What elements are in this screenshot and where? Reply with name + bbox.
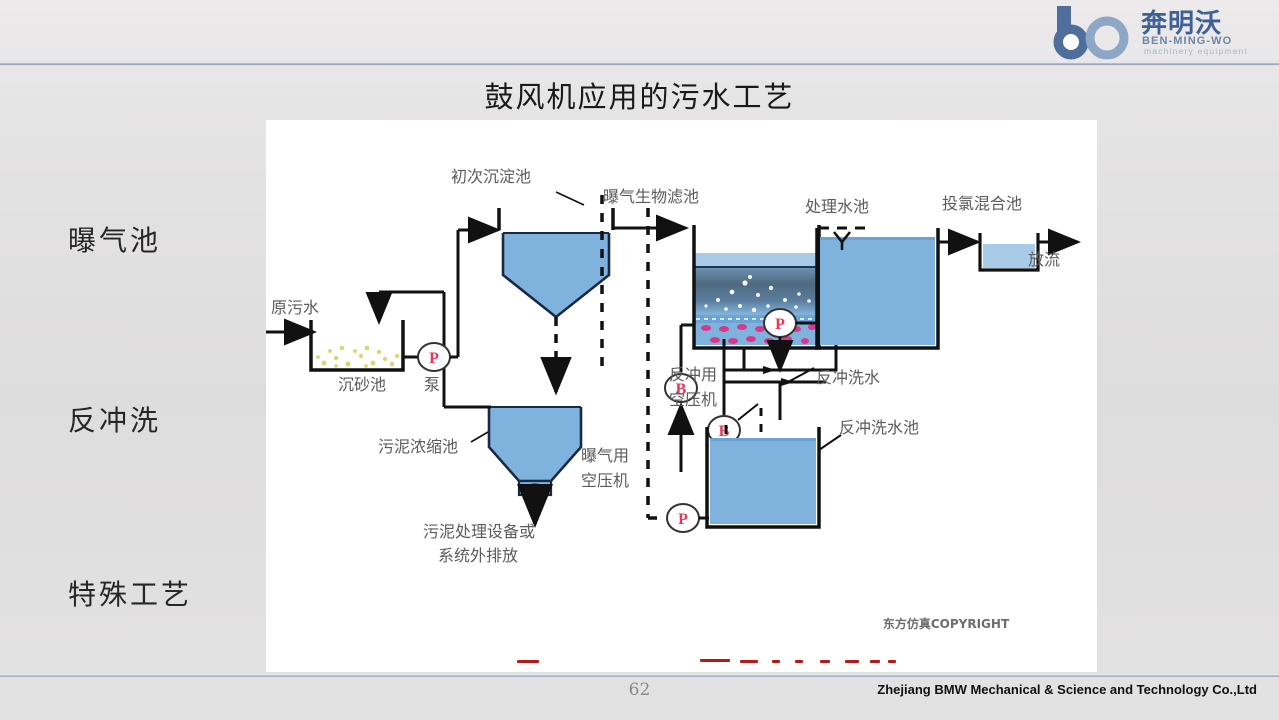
sidebar-item-special-process[interactable]: 特殊工艺 xyxy=(68,573,192,613)
label-backwash-compressor-2: 空压机 xyxy=(669,390,717,409)
sidebar-item-aeration-tank[interactable]: 曝气池 xyxy=(68,219,161,259)
svg-text:P: P xyxy=(429,350,439,367)
label-sludge-thickener: 污泥浓缩池 xyxy=(378,437,458,456)
label-aeration-compressor-2: 空压机 xyxy=(581,471,629,490)
thickener-label-leader xyxy=(471,432,488,442)
clipped-red-text-fragment-4 xyxy=(772,660,780,663)
pump-symbol-1[interactable]: P xyxy=(418,343,450,371)
biofilter-vessel xyxy=(694,225,819,348)
treated-water-vessel xyxy=(817,228,938,348)
sludge-thickener-vessel xyxy=(489,407,581,495)
label-backwash-water: 反冲洗水 xyxy=(816,368,880,387)
label-backwash-water-tank: 反冲洗水池 xyxy=(839,418,919,437)
pump-symbol-sludge[interactable]: P xyxy=(524,484,546,504)
backwash-compressor-leader xyxy=(738,404,758,420)
header-divider xyxy=(0,62,1279,66)
pump-symbol-backwash-tank[interactable]: P xyxy=(667,504,699,532)
svg-text:P: P xyxy=(775,316,785,333)
label-aeration-compressor-1: 曝气用 xyxy=(581,446,629,465)
svg-text:B: B xyxy=(719,423,730,440)
sidebar-item-backwash[interactable]: 反冲洗 xyxy=(68,399,161,439)
label-sludge-disposal-1: 污泥处理设备或 xyxy=(423,522,535,541)
label-pump: 泵 xyxy=(424,375,440,394)
logo-tagline-text: machinery equipment xyxy=(1144,46,1248,56)
label-raw-sewage: 原污水 xyxy=(271,298,319,317)
company-logo: 奔明沃 BEN-MING-WO machinery equipment xyxy=(1049,2,1271,60)
label-grit-chamber: 沉砂池 xyxy=(338,375,386,394)
pump-symbol-backwash[interactable]: P xyxy=(764,309,796,337)
label-primary-sedimentation: 初次沉淀池 xyxy=(451,167,531,186)
backwash-tank-leader xyxy=(819,435,841,450)
logo-mark-bo xyxy=(1057,6,1124,56)
clipped-red-text-fragment-8 xyxy=(870,660,880,663)
label-chlorine-mixing-tank: 投氯混合池 xyxy=(942,194,1022,213)
page-title: 鼓风机应用的污水工艺 xyxy=(0,74,1279,116)
clipped-red-text-fragment-2 xyxy=(700,659,730,662)
footer-divider xyxy=(0,674,1279,678)
primary-clarifier-vessel xyxy=(499,208,613,317)
label-treated-water-tank: 处理水池 xyxy=(805,197,869,216)
clipped-red-text-fragment-3 xyxy=(740,660,758,663)
label-discharge: 放流 xyxy=(1028,250,1060,269)
svg-text:P: P xyxy=(678,511,688,528)
grit-chamber-vessel xyxy=(311,320,403,370)
label-backwash-compressor-1: 反冲用 xyxy=(669,365,717,384)
label-sludge-disposal-2: 系统外排放 xyxy=(438,546,518,565)
clarifier-label-leader xyxy=(556,192,584,205)
clipped-red-text-fragment-5 xyxy=(795,660,803,663)
footer-company-name: Zhejiang BMW Mechanical & Science and Te… xyxy=(877,682,1257,697)
clipped-red-text-fragment-7 xyxy=(845,660,859,663)
svg-text:P: P xyxy=(531,488,538,502)
process-flow-diagram: P P xyxy=(266,120,1097,672)
backwash-return-lower xyxy=(724,370,826,382)
label-aerated-biofilter: 曝气生物滤池 xyxy=(603,187,699,206)
clipped-red-text-fragment-1 xyxy=(517,660,539,663)
diagram-watermark: 东方仿真COPYRIGHT xyxy=(883,616,1010,631)
clipped-red-text-fragment-9 xyxy=(888,660,896,663)
arrow-backwash-upper xyxy=(763,366,776,374)
clipped-red-text-fragment-6 xyxy=(820,660,830,663)
